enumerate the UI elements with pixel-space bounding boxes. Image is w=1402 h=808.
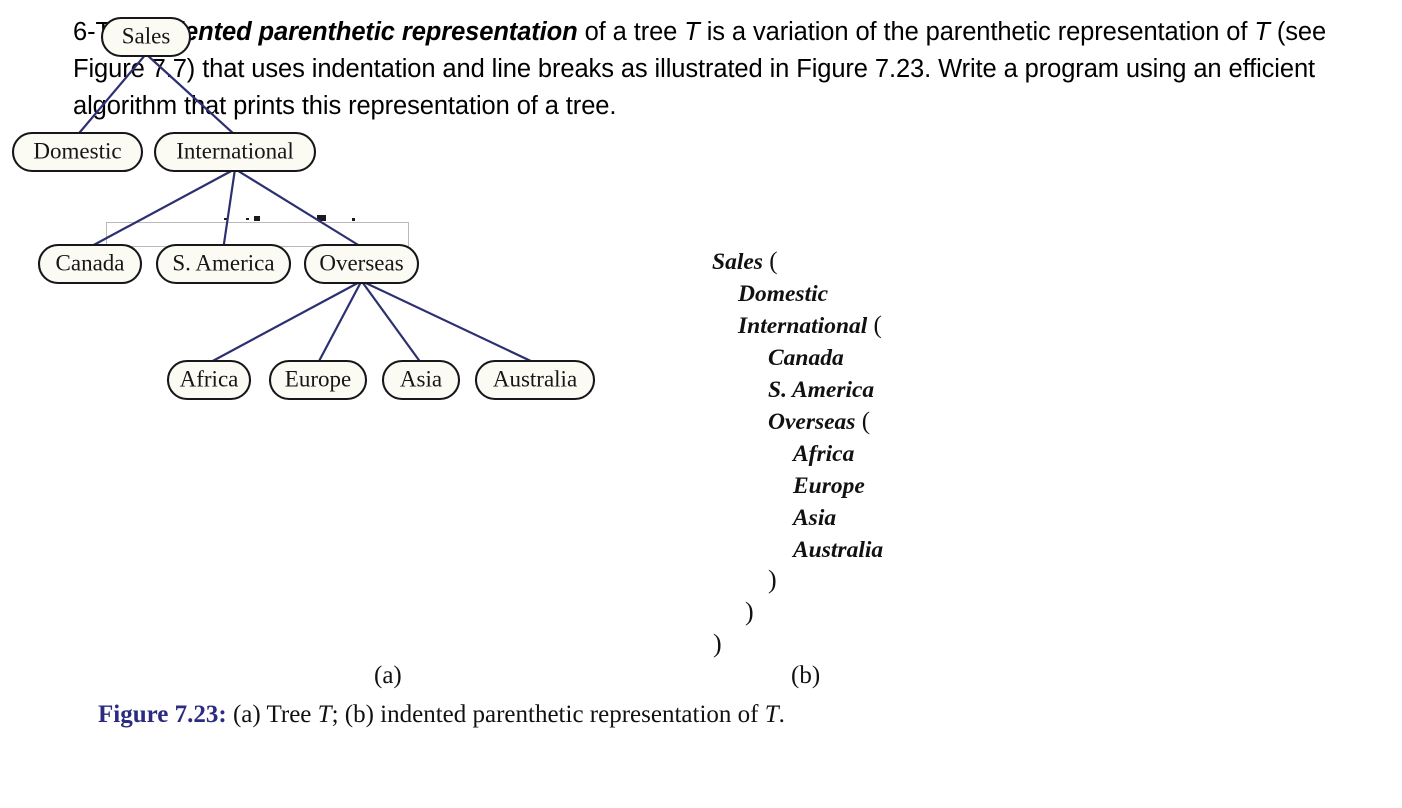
open-paren: ( [763, 248, 778, 275]
tree-nodes: SalesDomesticInternationalCanadaS. Ameri… [13, 18, 594, 399]
caption-figure-number: Figure 7.23: [98, 701, 227, 728]
paren-line: Australia [712, 534, 883, 566]
paren-line-label: Europe [793, 473, 865, 499]
caption-part-2: ; (b) indented parenthetic representatio… [332, 701, 765, 728]
node-label: Canada [56, 250, 125, 275]
tree-edge [78, 54, 147, 135]
caption-var-t-1: T [318, 701, 332, 728]
figure-caption: Figure 7.23: (a) Tree T; (b) indented pa… [98, 701, 785, 729]
paren-line: Domestic [712, 278, 883, 310]
paren-line-label: Domestic [738, 281, 828, 307]
paren-line-label: Australia [793, 537, 883, 563]
paren-line: Africa [712, 438, 883, 470]
sublabel-b: (b) [791, 662, 820, 690]
caption-var-t-2: T [765, 701, 779, 728]
close-paren: ) [713, 629, 722, 659]
tree-edge [224, 169, 236, 247]
node-label: International [176, 138, 294, 163]
tree-node-canada: Canada [39, 245, 141, 283]
node-label: Overseas [319, 250, 403, 275]
caption-part-1: (a) Tree [227, 701, 318, 728]
paren-line-label: Canada [768, 345, 844, 371]
node-label: Australia [493, 366, 577, 391]
tree-edges [78, 54, 536, 363]
paren-line: S. America [712, 374, 883, 406]
caption-part-3: . [779, 701, 785, 728]
paren-line: International ( [712, 310, 883, 342]
sublabel-a: (a) [374, 662, 402, 690]
tree-edge [146, 54, 235, 135]
paren-line-label: Africa [793, 441, 854, 467]
paren-line-label: International [738, 313, 867, 339]
tree-edge [90, 169, 235, 247]
paren-line-label: Overseas [768, 409, 855, 435]
tree-node-europe: Europe [270, 361, 366, 399]
tree-node-s-america: S. America [157, 245, 290, 283]
parenthetic-representation: Sales (DomesticInternational (CanadaS. A… [712, 246, 883, 566]
figure-7-23: SalesDomesticInternationalCanadaS. Ameri… [0, 0, 1402, 808]
tree-edge [235, 169, 362, 247]
tree-node-international: International [155, 133, 315, 171]
tree-edge [362, 281, 536, 363]
paren-line: Asia [712, 502, 883, 534]
tree-node-asia: Asia [383, 361, 459, 399]
paren-line-label: S. America [768, 377, 874, 403]
node-label: Domestic [33, 138, 121, 163]
paren-line: Europe [712, 470, 883, 502]
paren-line-label: Asia [793, 505, 836, 531]
tree-edge [362, 281, 422, 363]
open-paren: ( [867, 312, 882, 339]
paren-line-label: Sales [712, 249, 763, 275]
node-label: Asia [400, 366, 442, 391]
paren-line: Overseas ( [712, 406, 883, 438]
tree-diagram: SalesDomesticInternationalCanadaS. Ameri… [0, 0, 640, 430]
node-label: S. America [172, 250, 274, 275]
close-paren: ) [745, 597, 754, 627]
node-label: Europe [285, 366, 351, 391]
tree-node-domestic: Domestic [13, 133, 142, 171]
node-label: Sales [122, 23, 171, 48]
tree-node-australia: Australia [476, 361, 594, 399]
paren-line: Canada [712, 342, 883, 374]
open-paren: ( [855, 408, 870, 435]
tree-node-sales: Sales [102, 18, 190, 56]
tree-node-africa: Africa [168, 361, 250, 399]
node-label: Africa [180, 366, 239, 391]
tree-node-overseas: Overseas [305, 245, 418, 283]
close-paren: ) [768, 565, 777, 595]
paren-line: Sales ( [712, 246, 883, 278]
